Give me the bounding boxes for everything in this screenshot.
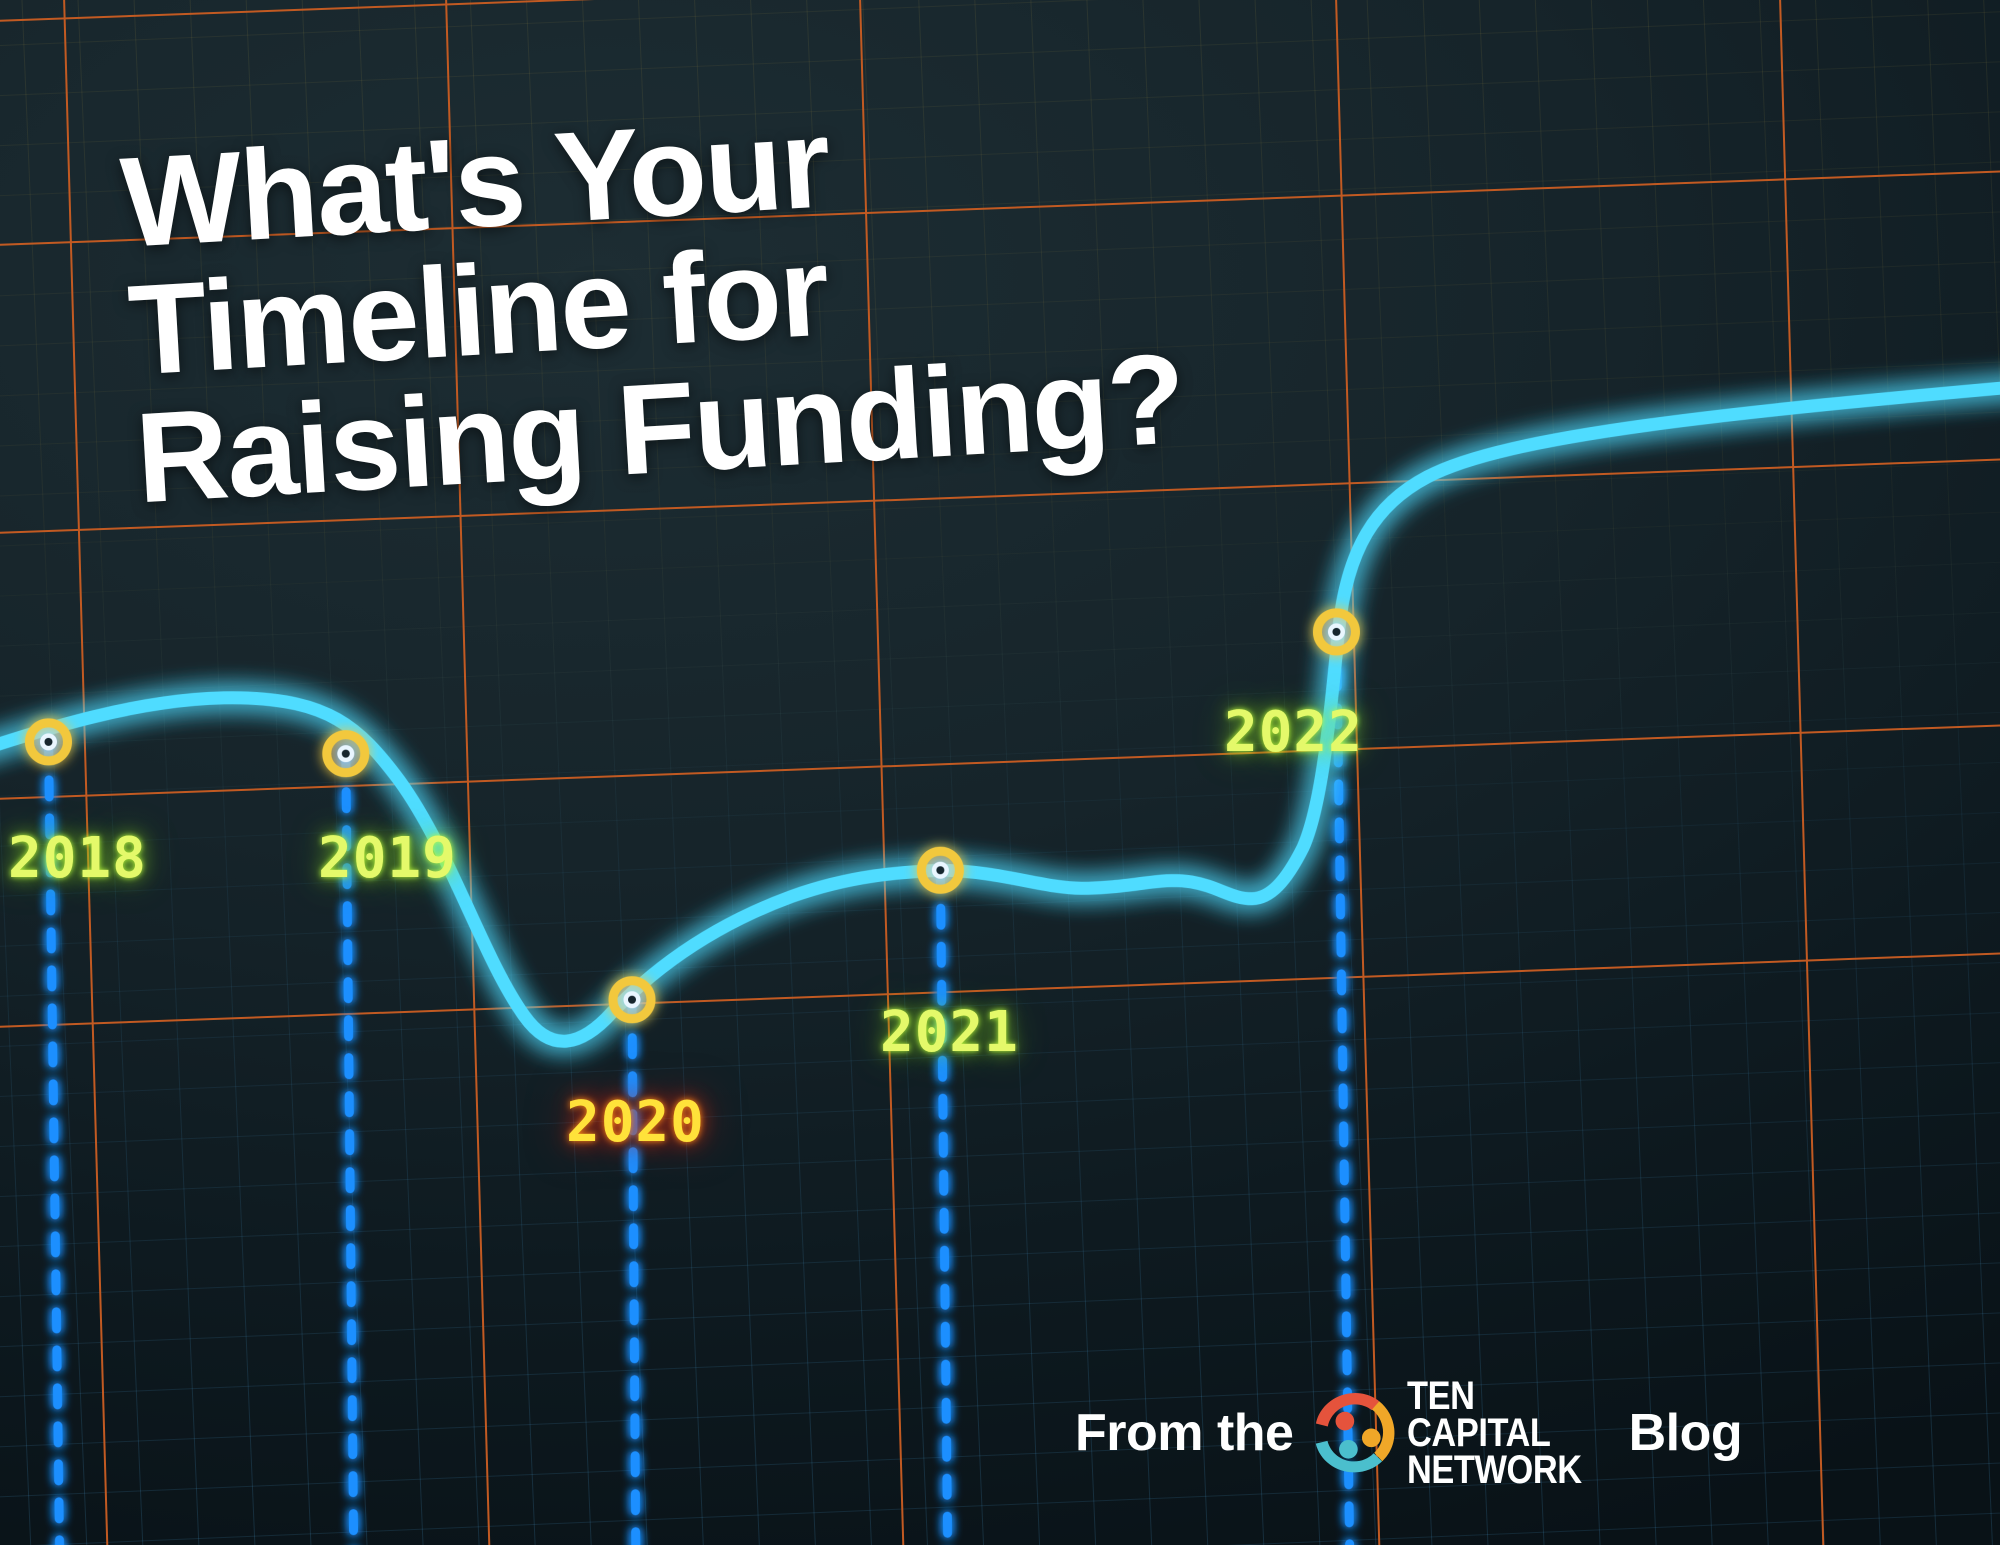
guide-2020 [624, 1000, 644, 1545]
gridline-horizontal [0, 722, 2000, 802]
chart-plot-area [0, 384, 2000, 1545]
gridline-vertical [1778, 0, 1826, 1545]
blog-credit: From the TEN CAPITAL NETWORK Blog [1075, 1378, 1742, 1488]
logo-word-network: NETWORK [1407, 1452, 1582, 1489]
year-label-2018: 2018 [8, 826, 147, 891]
logo-word-ten: TEN [1407, 1378, 1582, 1415]
credit-prefix: From the [1075, 1403, 1293, 1463]
three-people-circle-logo-icon [1311, 1389, 1399, 1477]
logo-word-capital: CAPITAL [1407, 1415, 1582, 1452]
marker-2020 [613, 980, 652, 1019]
year-label-2022: 2022 [1224, 700, 1363, 765]
year-label-2020: 2020 [566, 1090, 705, 1155]
poster-canvas: 2018 2019 2020 2021 2022 What's Your Tim… [0, 0, 2000, 1545]
marker-2018 [29, 722, 68, 761]
guide-2021 [933, 870, 954, 1545]
marker-2022 [1317, 613, 1356, 652]
marker-2019 [326, 734, 365, 773]
marker-2021 [921, 851, 960, 890]
gridline-vertical [62, 0, 110, 1545]
logo-wordmark: TEN CAPITAL NETWORK [1407, 1378, 1582, 1488]
year-label-2019: 2019 [318, 826, 457, 891]
data-point-markers [27, 613, 1363, 1032]
ten-capital-network-logo: TEN CAPITAL NETWORK [1311, 1378, 1610, 1488]
gridline-horizontal [0, 0, 2000, 24]
credit-suffix: Blog [1629, 1403, 1743, 1463]
gridline-vertical [1334, 0, 1382, 1545]
year-label-2021: 2021 [880, 1000, 1019, 1065]
page-title: What's Your Timeline for Raising Funding… [118, 80, 1187, 524]
